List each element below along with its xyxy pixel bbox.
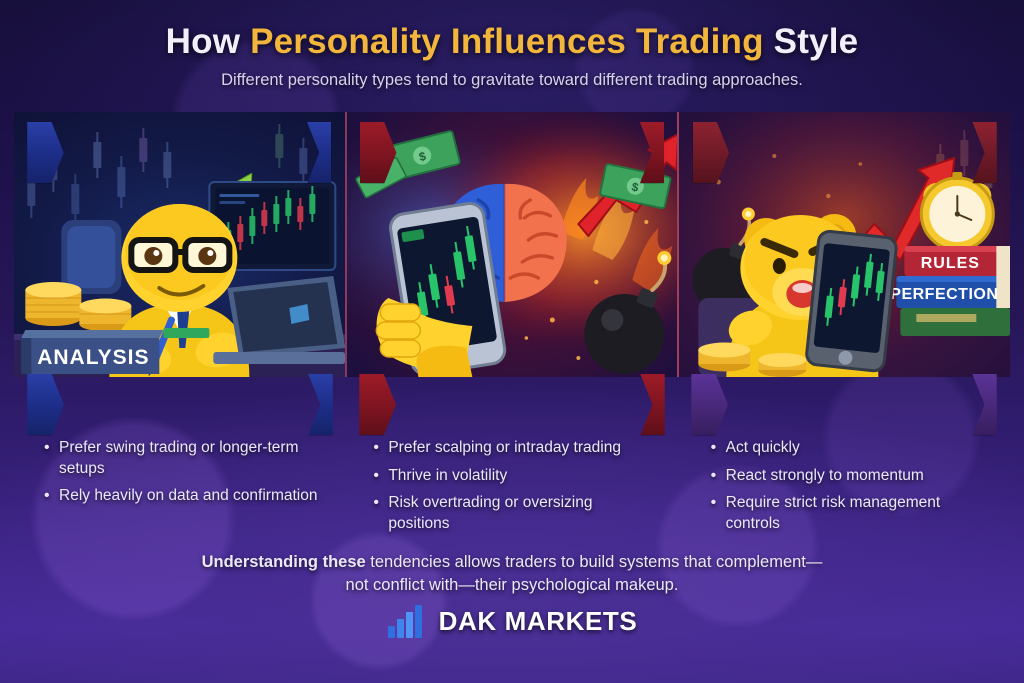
panel-aggressive: $ $ [345,112,678,377]
page-title: How Personality Influences Trading Style [0,22,1024,62]
title-segment-2: Personality Influences Trading [250,22,764,61]
top-banner-wrap-aggressive: AGGRESSIVE Personalities [360,122,664,183]
mid-banner-sub-analytical: Personalities [27,403,332,425]
bullet-list-impulsive: Act quickly React strongly to momentum R… [673,438,1010,543]
mid-banner-kicker-analytical: ANALYTICAL [27,382,332,403]
poster-header: How Personality Influences Trading Style… [0,22,1024,90]
top-banner-wrap-risk-averse: RISK–AVERSE Personalities [693,122,997,183]
top-banner-sub-risk-averse: Personalities [693,151,997,173]
svg-text:RULES: RULES [921,255,980,272]
top-banner-kicker-risk-averse: RISK–AVERSE [693,130,997,151]
bullet-list-aggressive: Prefer scalping or intraday trading Thri… [343,438,672,543]
list-item: Thrive in volatility [373,466,652,487]
title-segment-3: Style [764,22,859,61]
top-banner-sub-aggressive: Personalities [360,151,664,173]
mid-banner-aggressive: AGGRESSIVE Personalities [359,374,664,435]
mid-banner-analytical: ANALYTICAL Personalities [27,374,332,435]
page-subtitle: Different personality types tend to grav… [0,71,1024,90]
bullets-row: Prefer swing trading or longer-term setu… [14,438,1010,543]
office-chair-icon [61,220,121,294]
brand-lockup: DAK MARKETS [0,604,1024,638]
list-item: Risk overtrading or oversizing positions [373,493,652,534]
footer-line-1-rest: tendencies allows traders to build syste… [366,553,823,571]
books-stack: RULES PERFECTION [891,246,1010,336]
alarm-clock-icon [922,172,994,250]
mid-banner-kicker-impulsive: IMPULSIVE [691,382,996,403]
footer-line-2: not conflict with—their psychological ma… [0,574,1024,597]
book-rules: RULES [905,246,1010,276]
top-banner-aggressive: AGGRESSIVE Personalities [360,122,664,183]
top-banner-kicker-analytical: ANALYTICAL [27,130,331,151]
panel-risk-averse: RULES PERFECTION [677,112,1010,377]
mid-banner-row: ANALYTICAL Personalities AGGRESSIVE Pers… [14,374,1010,430]
book-perfection: PERFECTION [891,276,1010,308]
top-banner-wrap-analytical: ANALYTICAL Personalities [27,122,331,183]
title-segment-1: How [166,22,250,61]
top-banner-risk-averse: RISK–AVERSE Personalities [693,122,997,183]
list-item: Prefer scalping or intraday trading [373,438,652,459]
list-item: Rely heavily on data and confirmation [44,486,323,507]
top-banner-sub-analytical: Personalities [27,151,331,173]
bullet-list-analytical: Prefer swing trading or longer-term setu… [14,438,343,543]
smartphone-icon [806,230,898,371]
money-note-icon [163,328,209,338]
mid-banner-sub-impulsive: Personalities [691,403,996,425]
mid-banner-cell-analytical: ANALYTICAL Personalities [14,374,346,430]
footer-summary: Understanding these tendencies allows tr… [0,551,1024,598]
svg-text:ANALYSIS: ANALYSIS [37,346,149,369]
infographic-poster: How Personality Influences Trading Style… [0,0,1024,683]
mid-banner-impulsive: IMPULSIVE Personalities [691,374,996,435]
mid-banner-sub-aggressive: Personalities [359,403,664,425]
analysis-book: ANALYSIS [21,330,163,374]
brand-name: DAK MARKETS [439,606,638,637]
top-banner-kicker-aggressive: AGGRESSIVE [360,130,664,151]
list-item: Prefer swing trading or longer-term setu… [44,438,323,479]
svg-text:PERFECTION: PERFECTION [891,286,999,303]
book-green [901,308,1010,336]
list-item: Require strict risk management controls [711,493,990,534]
mid-banner-cell-impulsive: IMPULSIVE Personalities [678,374,1010,430]
mid-banner-cell-aggressive: AGGRESSIVE Personalities [346,374,678,430]
top-banner-analytical: ANALYTICAL Personalities [27,122,331,183]
panel-analytical: ANALYSIS ANALYTICAL Personalities [14,112,345,377]
footer-line-1-bold: Understanding these [202,553,366,571]
list-item: React strongly to momentum [711,466,990,487]
illustration-panels: ANALYSIS ANALYTICAL Personalities [14,112,1010,377]
mid-banner-kicker-aggressive: AGGRESSIVE [359,382,664,403]
bar-chart-logo-icon [387,604,427,638]
footer-line-1: Understanding these tendencies allows tr… [0,551,1024,574]
list-item: Act quickly [711,438,990,459]
